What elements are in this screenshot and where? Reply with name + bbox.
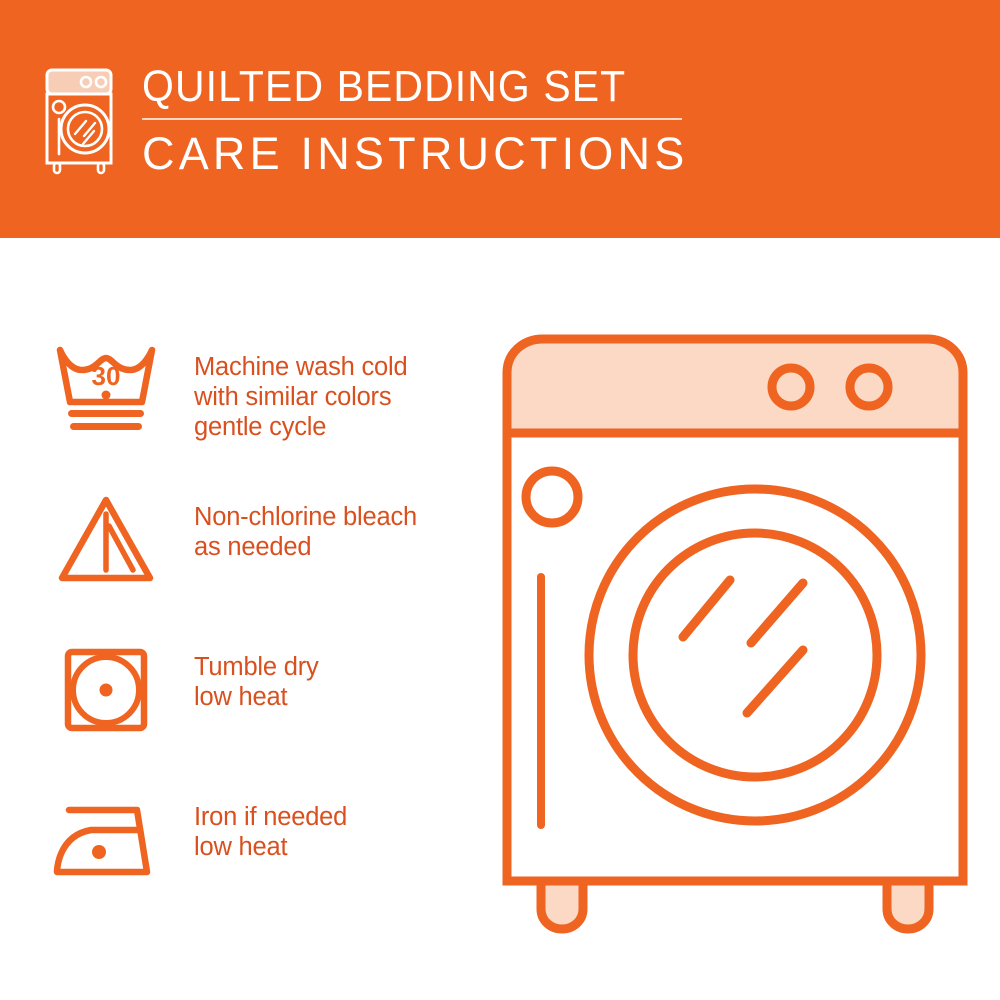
care-text-line: as needed [194, 532, 417, 562]
care-text-line: Tumble dry [194, 652, 319, 682]
care-row: Iron if needed low heat [46, 780, 476, 930]
title-divider [142, 118, 682, 120]
care-row: Tumble dry low heat [46, 630, 476, 780]
care-icon-slot [46, 480, 166, 598]
header-banner: QUILTED BEDDING SET CARE INSTRUCTIONS [0, 0, 1000, 238]
care-icon-slot [46, 630, 166, 748]
control-panel [507, 339, 963, 433]
care-text: Non-chlorine bleach as needed [194, 480, 417, 562]
washing-machine-icon [42, 66, 120, 178]
care-text-line: low heat [194, 832, 347, 862]
page-title: QUILTED BEDDING SET [142, 62, 650, 112]
care-icon-slot [46, 780, 166, 898]
care-text-line: Iron if needed [194, 802, 347, 832]
care-text-line: Non-chlorine bleach [194, 502, 417, 532]
care-text-line: with similar colors [194, 382, 407, 412]
page-subtitle: CARE INSTRUCTIONS [142, 128, 688, 180]
care-instruction-list: 30 Machine wash cold with similar colors… [46, 330, 476, 930]
care-text: Iron if needed low heat [194, 780, 347, 862]
header-title-block: QUILTED BEDDING SET CARE INSTRUCTIONS [142, 62, 688, 180]
washing-machine-illustration [485, 325, 985, 945]
tumble-dry-low-icon [54, 640, 158, 738]
door-inner-ring [633, 533, 877, 777]
dispenser-dot [526, 471, 578, 523]
foot-left [541, 881, 583, 929]
door-outer-ring [589, 489, 921, 821]
door-shine-lines [683, 580, 803, 713]
care-text-line: Machine wash cold [194, 352, 407, 382]
care-row: Non-chlorine bleach as needed [46, 480, 476, 630]
care-text: Tumble dry low heat [194, 630, 319, 712]
care-text-line: gentle cycle [194, 412, 407, 442]
iron-low-heat-icon [51, 790, 161, 888]
non-chlorine-bleach-triangle-icon [54, 490, 158, 588]
care-icon-slot: 30 [46, 330, 166, 448]
care-text-line: low heat [194, 682, 319, 712]
care-instructions-page: QUILTED BEDDING SET CARE INSTRUCTIONS 30… [0, 0, 1000, 1000]
header-content: QUILTED BEDDING SET CARE INSTRUCTIONS [42, 62, 688, 180]
foot-right [887, 881, 929, 929]
care-text: Machine wash cold with similar colors ge… [194, 330, 407, 442]
wash-temperature-label: 30 [92, 361, 121, 391]
wash-tub-30-icon: 30 [54, 340, 158, 438]
care-row: 30 Machine wash cold with similar colors… [46, 330, 476, 480]
